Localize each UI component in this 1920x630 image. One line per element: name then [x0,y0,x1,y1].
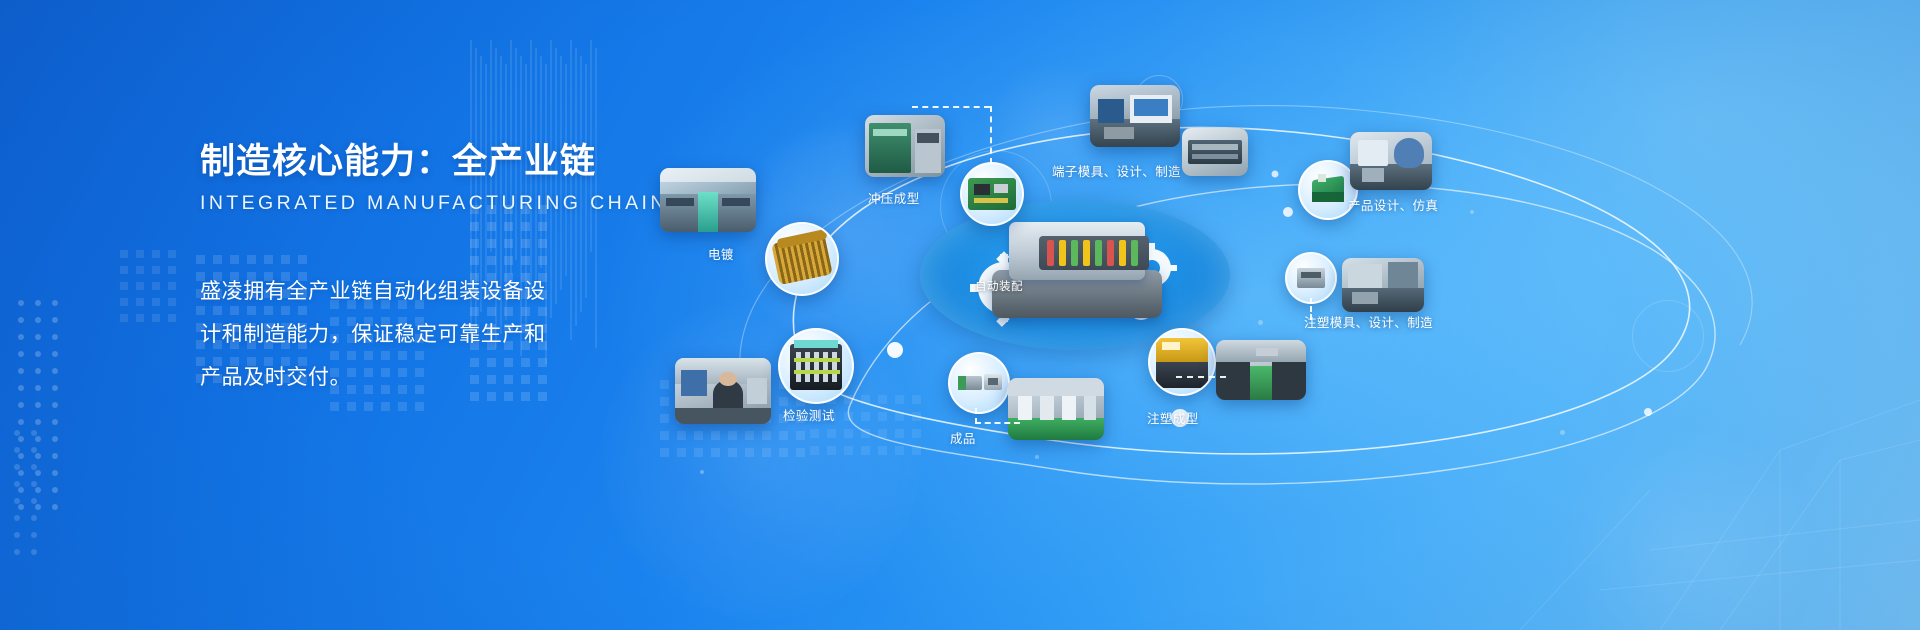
node-bubble-injection-forming[interactable] [1148,328,1216,396]
node-photo-plating[interactable] [660,168,756,232]
hero-text-block: 制造核心能力：全产业链 INTEGRATED MANUFACTURING CHA… [200,142,620,399]
node-photo-finished-goods[interactable] [1008,378,1104,440]
connector-dashed [990,106,992,164]
node-label-injection-forming: 注塑成型 [1147,408,1199,427]
node-label-terminal-mold: 端子模具、设计、制造 [1052,161,1181,180]
connector-dashed [1310,298,1312,320]
connector-dashed [912,106,990,108]
node-photo-injection-forming[interactable] [1216,340,1306,400]
node-photo-injection-mold[interactable] [1342,258,1424,312]
assembly-machine-illustration [992,218,1162,323]
node-label-product-design: 产品设计、仿真 [1348,195,1438,214]
node-bubble-plating-coil[interactable] [765,222,839,296]
connector-dashed [975,422,1020,424]
page-title: 制造核心能力：全产业链 [200,142,620,182]
connector-dashed [1176,376,1226,378]
node-bubble-inspection[interactable] [778,328,854,404]
node-photo-inspection[interactable] [675,358,771,424]
node-label-injection-mold: 注塑模具、设计、制造 [1304,312,1433,331]
manufacturing-chain-diagram: 自动装配 电镀 冲压成型 [620,40,1920,600]
page-subtitle: INTEGRATED MANUFACTURING CHAIN [200,192,620,215]
node-photo-stamping[interactable] [865,115,945,177]
connector-dashed [975,408,977,424]
node-label-inspection: 检验测试 [783,405,835,424]
node-label-plating: 电镀 [708,244,734,263]
orbit-paths [620,40,1920,600]
machine-chamber [1039,236,1149,270]
node-label-finished-goods: 成品 [950,428,976,447]
node-photo-terminal-mold-detail[interactable] [1182,128,1248,176]
node-photo-terminal-mold[interactable] [1090,85,1180,147]
node-photo-product-design[interactable] [1350,132,1432,190]
hero-description: 盛凌拥有全产业链自动化组装设备设计和制造能力，保证稳定可靠生产和产品及时交付。 [200,270,560,399]
banner-hero: 制造核心能力：全产业链 INTEGRATED MANUFACTURING CHA… [0,0,1920,630]
node-bubble-finished-goods[interactable] [948,352,1010,414]
hub-label: 自动装配 [975,278,1023,294]
node-bubble-pcb[interactable] [960,162,1024,226]
machine-top [1009,222,1145,280]
spacer [200,215,620,270]
node-bubble-injection-mold[interactable] [1285,252,1337,304]
node-label-stamping: 冲压成型 [868,188,920,207]
